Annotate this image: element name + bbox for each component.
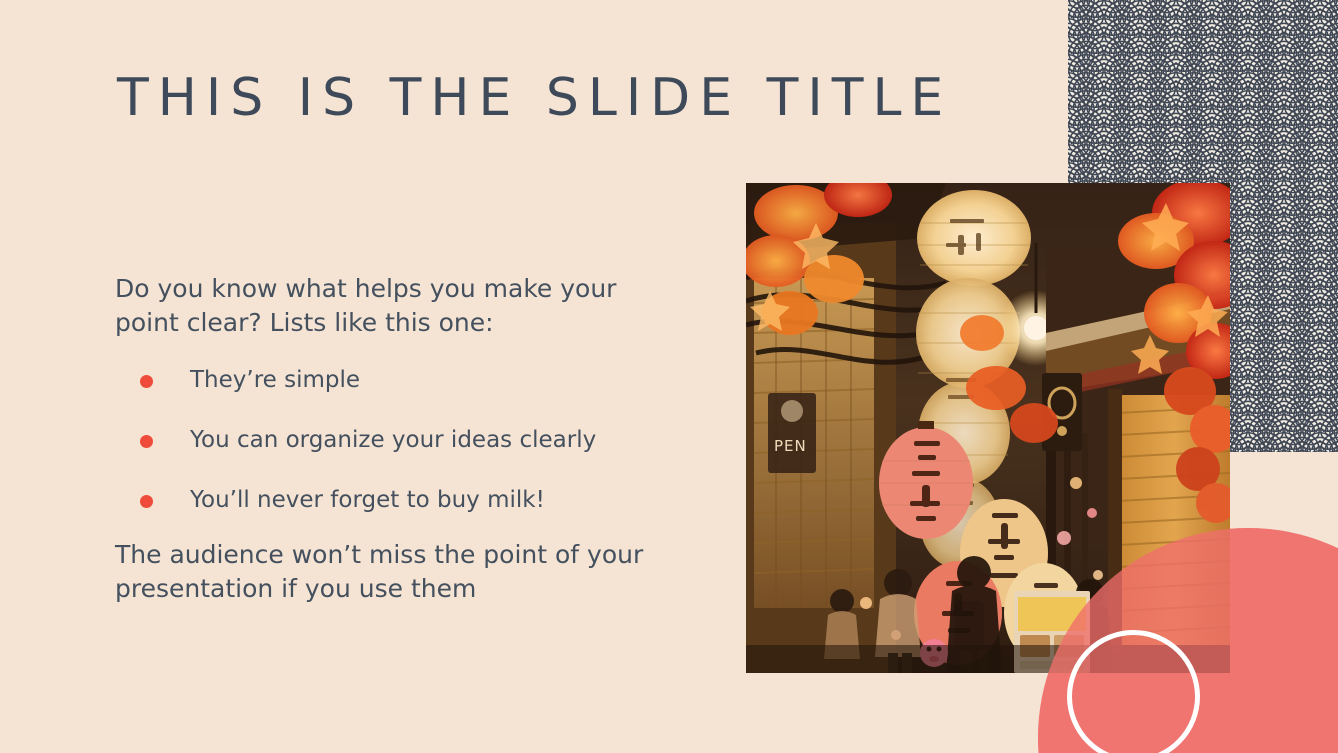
intro-paragraph: Do you know what helps you make your poi… xyxy=(115,272,675,340)
list-item-label: They’re simple xyxy=(190,367,360,393)
list-item-label: You can organize your ideas clearly xyxy=(190,427,596,453)
bullet-dot-icon xyxy=(140,375,153,388)
list-item: You can organize your ideas clearly xyxy=(115,426,675,456)
closing-paragraph: The audience won’t miss the point of you… xyxy=(115,538,675,606)
slide-canvas: PEN xyxy=(0,0,1338,753)
list-item-label: You’ll never forget to buy milk! xyxy=(190,487,545,513)
list-item: They’re simple xyxy=(115,366,675,396)
white-circle-outline-decoration xyxy=(1067,630,1200,753)
slide-body-content: Do you know what helps you make your poi… xyxy=(115,272,675,606)
bullet-list: They’re simple You can organize your ide… xyxy=(115,366,675,516)
bullet-dot-icon xyxy=(140,435,153,448)
list-item: You’ll never forget to buy milk! xyxy=(115,486,675,516)
page-title: THIS IS THE SLIDE TITLE xyxy=(117,68,952,128)
bullet-dot-icon xyxy=(140,495,153,508)
